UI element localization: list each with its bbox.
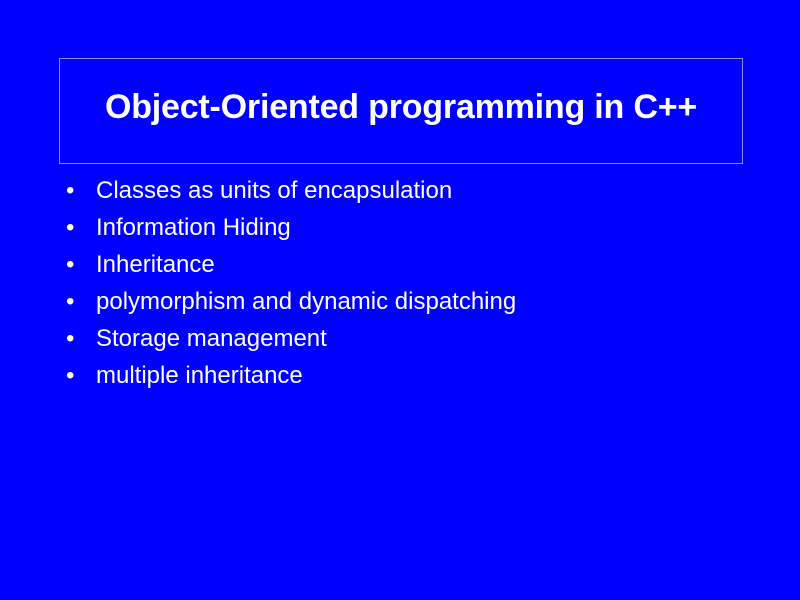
bullet-dot-icon: • [62,361,96,391]
list-item: • Classes as units of encapsulation [62,176,762,213]
list-item-label: Classes as units of encapsulation [96,176,762,206]
list-item-label: multiple inheritance [96,361,762,391]
bullet-dot-icon: • [62,213,96,243]
bullet-list: • Classes as units of encapsulation • In… [62,176,762,398]
list-item-label: Inheritance [96,250,762,280]
list-item: • Inheritance [62,250,762,287]
list-item-label: Storage management [96,324,762,354]
list-item: • Information Hiding [62,213,762,250]
slide-title: Object-Oriented programming in C++ [60,88,742,126]
slide-title-box: Object-Oriented programming in C++ [59,58,743,164]
bullet-dot-icon: • [62,287,96,317]
list-item: • polymorphism and dynamic dispatching [62,287,762,324]
list-item-label: polymorphism and dynamic dispatching [96,287,762,317]
list-item: • Storage management [62,324,762,361]
list-item-label: Information Hiding [96,213,762,243]
presentation-slide: Object-Oriented programming in C++ • Cla… [0,0,800,600]
bullet-dot-icon: • [62,176,96,206]
list-item: • multiple inheritance [62,361,762,398]
bullet-dot-icon: • [62,250,96,280]
bullet-dot-icon: • [62,324,96,354]
